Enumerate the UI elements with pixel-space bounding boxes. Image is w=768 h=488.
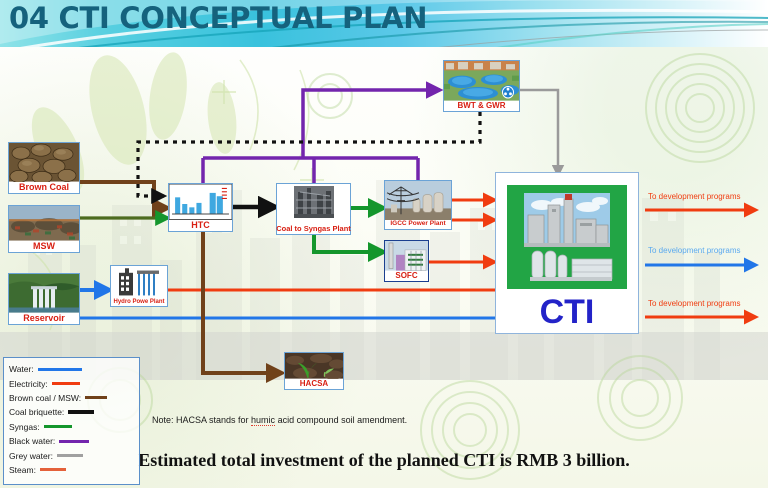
seedling-soil-photo [285,353,343,379]
cti-label: CTI [540,295,595,329]
legend-label: Syngas: [9,422,40,432]
legend-swatch-steam [40,468,66,471]
output-label-2: To development programs [648,246,741,255]
legend-label: Brown coal / MSW: [9,393,81,403]
legend-item-coal-briquette: Coal briquette: [9,405,135,419]
legend-item-brown-coal-msw: Brown coal / MSW: [9,391,135,405]
legend-label: Steam: [9,465,36,475]
cti-industrial-photo [512,189,622,285]
legend-swatch-coal-briquette [68,410,94,414]
legend-swatch-black-water [59,440,89,443]
node-reservoir[interactable]: Reservoir [8,273,80,325]
legend-item-electricity: Electricity: [9,376,135,390]
legend-item-grey-water: Grey water: [9,448,135,462]
igcc-plant-photo [385,181,451,220]
node-label: HACSA [299,379,329,389]
dam-reservoir-photo [9,274,79,313]
node-hacsa[interactable]: HACSA [284,352,344,390]
node-label: Hydro Powe Plant [112,298,165,306]
node-cti[interactable]: CTI [495,172,639,334]
node-label: Coal to Syngas Plant [275,224,352,234]
legend-label: Grey water: [9,451,53,461]
slide-canvas: 04 CTI CONCEPTUAL PLAN [0,0,768,488]
legend-swatch-electricity [52,382,80,385]
legend-item-black-water: Black water: [9,434,135,448]
htc-chart-icon [169,184,232,220]
node-label: BWT & GWR [457,101,507,111]
water-treatment-photo [444,61,519,101]
note-misspelled-word: humic [251,415,275,426]
legend-swatch-syngas [44,425,72,428]
output-label-3: To development programs [648,299,741,308]
legend-label: Coal briquette: [9,407,64,417]
hydro-plant-icon [111,266,167,298]
legend-swatch-brown-coal [85,396,107,399]
note-text: Note: HACSA stands for humic acid compou… [152,415,407,425]
sofc-plant-photo [385,241,428,271]
node-coal-to-syngas-plant[interactable]: Coal to Syngas Plant [276,183,351,235]
node-label: SOFC [394,271,418,281]
node-brown-coal[interactable]: Brown Coal [8,142,80,194]
node-label: HTC [190,220,211,231]
output-label-1: To development programs [648,192,741,201]
legend-label: Black water: [9,436,55,446]
legend-item-syngas: Syngas: [9,420,135,434]
legend-item-steam: Steam: [9,463,135,477]
syngas-plant-photo [277,184,350,224]
legend-label: Electricity: [9,379,48,389]
node-label: MSW [32,241,56,252]
legend-label: Water: [9,364,34,374]
note-suffix: acid compound soil amendment. [275,415,407,425]
node-igcc-power-plant[interactable]: IGCC Power Plant [384,180,452,230]
node-htc[interactable]: HTC [168,183,233,232]
legend-panel: Water: Electricity: Brown coal / MSW: Co… [3,357,140,485]
node-label: Reservoir [22,313,66,324]
node-label: IGCC Power Plant [389,220,446,229]
legend-item-water: Water: [9,362,135,376]
node-bwt-gwr[interactable]: BWT & GWR [443,60,520,112]
note-prefix: Note: HACSA stands for [152,415,251,425]
landfill-photo [9,206,79,241]
coal-pile-photo [9,143,79,182]
node-label: Brown Coal [18,182,70,193]
legend-swatch-grey-water [57,454,83,457]
legend-swatch-water [38,368,82,371]
node-hydro-power-plant[interactable]: Hydro Powe Plant [110,265,168,307]
cti-green-panel [507,185,627,289]
node-msw[interactable]: MSW [8,205,80,253]
node-sofc[interactable]: SOFC [384,240,429,282]
